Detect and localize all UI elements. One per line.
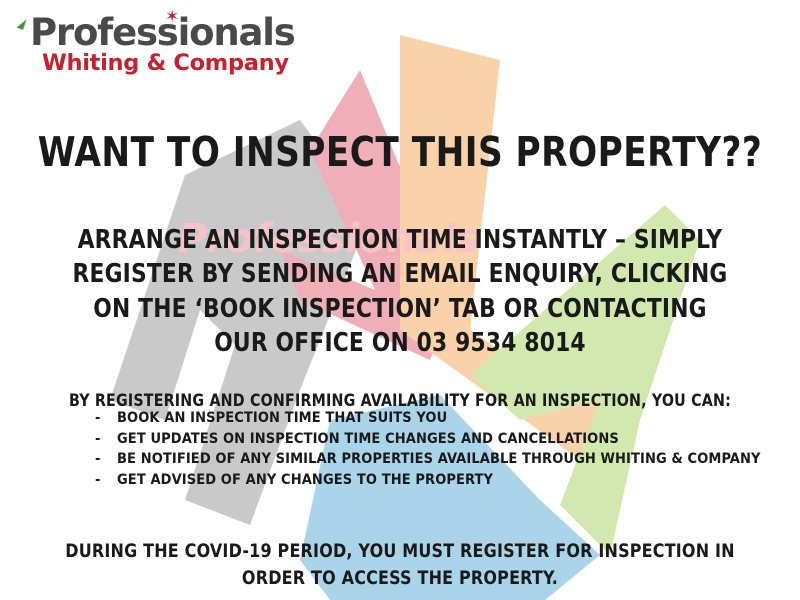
bullet-marker: - [95,429,117,450]
list-item: -BOOK AN INSPECTION TIME THAT SUITS YOU [95,408,755,429]
benefits-list: -BOOK AN INSPECTION TIME THAT SUITS YOU … [95,408,755,490]
list-item-label: GET ADVISED OF ANY CHANGES TO THE PROPER… [117,472,493,488]
poster-content: WANT TO INSPECT THIS PROPERTY?? ARRANGE … [0,0,800,600]
covid-notice-text: DURING THE COVID-19 PERIOD, YOU MUST REG… [64,538,736,592]
list-item-label: GET UPDATES ON INSPECTION TIME CHANGES A… [117,431,619,447]
bullet-marker: - [95,449,117,470]
logo-brand-name-row: Professionals ✶ [18,14,295,51]
list-item: -BE NOTIFIED OF ANY SIMILAR PROPERTIES A… [95,449,755,470]
logo-office-name: Whiting & Company [18,52,295,75]
star-icon: ✶ [165,9,178,26]
logo-brand-name: Professionals [30,11,295,54]
bullet-marker: - [95,408,117,429]
brand-logo: Professionals ✶ Whiting & Company [18,14,295,75]
poster-canvas: Professionals Professionals ✶ Whiting & … [0,0,800,600]
list-item-label: BOOK AN INSPECTION TIME THAT SUITS YOU [117,410,447,426]
bullet-marker: - [95,470,117,491]
leaf-icon [16,17,26,30]
list-item: -GET ADVISED OF ANY CHANGES TO THE PROPE… [95,470,755,491]
lead-paragraph: ARRANGE AN INSPECTION TIME INSTANTLY – S… [72,223,728,361]
page-title: WANT TO INSPECT THIS PROPERTY?? [28,128,772,176]
list-item-label: BE NOTIFIED OF ANY SIMILAR PROPERTIES AV… [117,451,761,467]
list-item: -GET UPDATES ON INSPECTION TIME CHANGES … [95,429,755,450]
